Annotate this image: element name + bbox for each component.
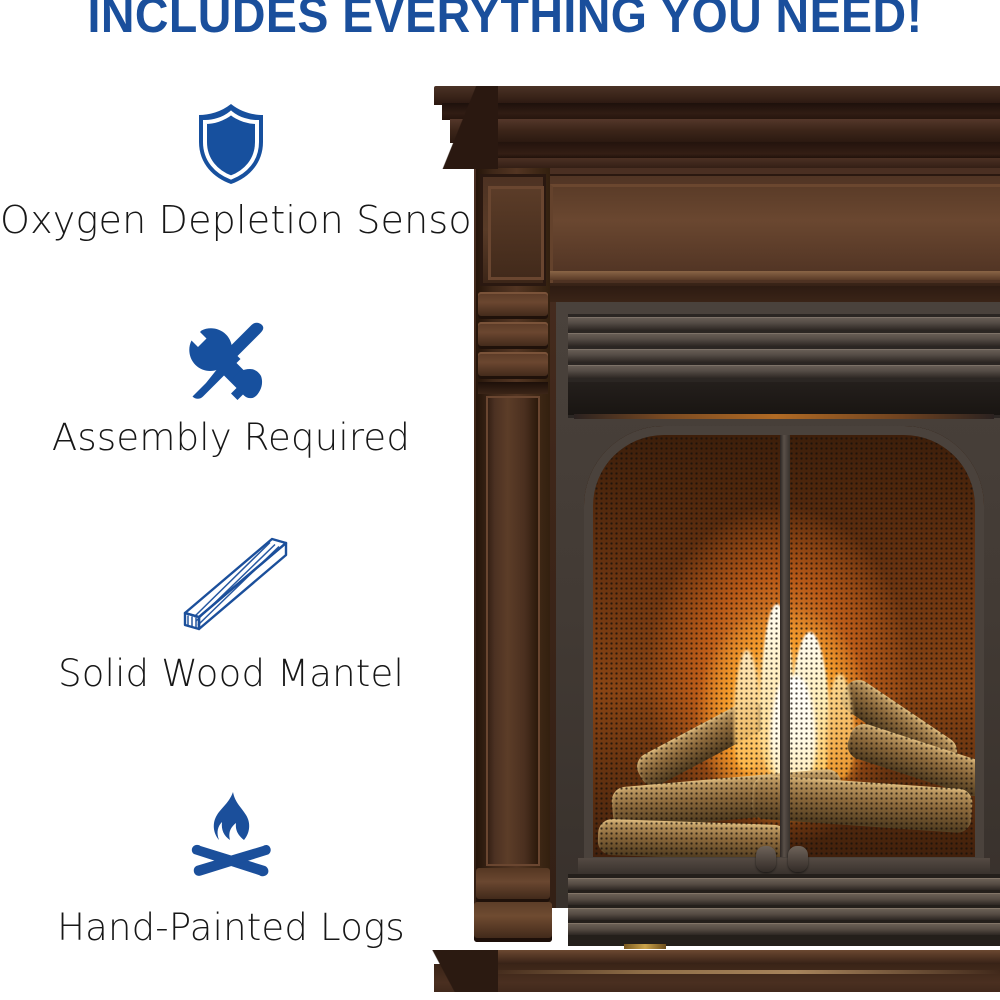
tools-icon xyxy=(0,314,462,410)
upper-vent-shadow xyxy=(568,382,1000,415)
upper-vent-glow xyxy=(574,414,994,419)
louver-slat xyxy=(568,333,1000,346)
louver-slat xyxy=(568,878,1000,890)
door-bottom-rail xyxy=(578,858,990,874)
pilaster-capital-inset xyxy=(488,186,544,280)
hearth-highlight xyxy=(488,970,1000,974)
crown-bevel xyxy=(428,86,498,169)
infographic-canvas: INCLUDES EVERYTHING YOU NEED! Oxygen Dep… xyxy=(0,0,1000,1000)
louver-slat xyxy=(568,365,1000,378)
feature-label: Oxygen Depletion Sensor xyxy=(0,198,462,242)
mantel-frieze-inset xyxy=(550,184,1000,283)
lower-louver-vent xyxy=(568,874,1000,946)
pilaster-fluted-shaft xyxy=(486,396,540,866)
arched-door-frame[interactable] xyxy=(584,426,984,866)
product-photo-fireplace xyxy=(428,86,1000,992)
feature-item-solid-wood-mantel: Solid Wood Mantel xyxy=(0,526,462,695)
brand-badge xyxy=(624,944,666,949)
shield-icon xyxy=(0,96,462,192)
feature-label: Hand-Painted Logs xyxy=(0,906,462,949)
louver-slat xyxy=(568,893,1000,905)
page-title: INCLUDES EVERYTHING YOU NEED! xyxy=(35,0,974,44)
pilaster-plinth-upper xyxy=(476,868,550,902)
wood-plank-icon xyxy=(0,526,462,638)
hearth-bevel xyxy=(428,950,498,992)
feature-item-assembly-required: Assembly Required xyxy=(0,314,462,459)
feature-list: Oxygen Depletion Sensor Assembly xyxy=(0,96,462,996)
mantel-frieze-shadow xyxy=(538,286,1000,302)
pilaster-block xyxy=(478,292,548,319)
mantel-crown-band-3 xyxy=(462,142,1000,159)
mantel-crown-band-2 xyxy=(450,119,1000,143)
louver-slat xyxy=(568,349,1000,362)
campfire-icon xyxy=(0,786,462,886)
louver-slat xyxy=(568,908,1000,920)
louver-slat xyxy=(568,923,1000,935)
door-handle-right[interactable] xyxy=(788,846,808,872)
mantel-frieze-highlight xyxy=(550,271,1000,280)
feature-item-oxygen-depletion-sensor: Oxygen Depletion Sensor xyxy=(0,96,462,242)
louver-slat xyxy=(568,317,1000,330)
pilaster-plinth-lower xyxy=(474,902,552,942)
feature-label: Assembly Required xyxy=(0,416,462,459)
pilaster-block xyxy=(478,322,548,349)
pilaster-shadow xyxy=(478,382,548,394)
mantel-crown-band-1 xyxy=(442,103,1000,120)
pilaster-block xyxy=(478,352,548,379)
hearth-base xyxy=(434,964,1000,992)
door-handle-left[interactable] xyxy=(756,846,776,872)
feature-label: Solid Wood Mantel xyxy=(0,652,462,695)
feature-item-hand-painted-logs: Hand-Painted Logs xyxy=(0,786,462,949)
